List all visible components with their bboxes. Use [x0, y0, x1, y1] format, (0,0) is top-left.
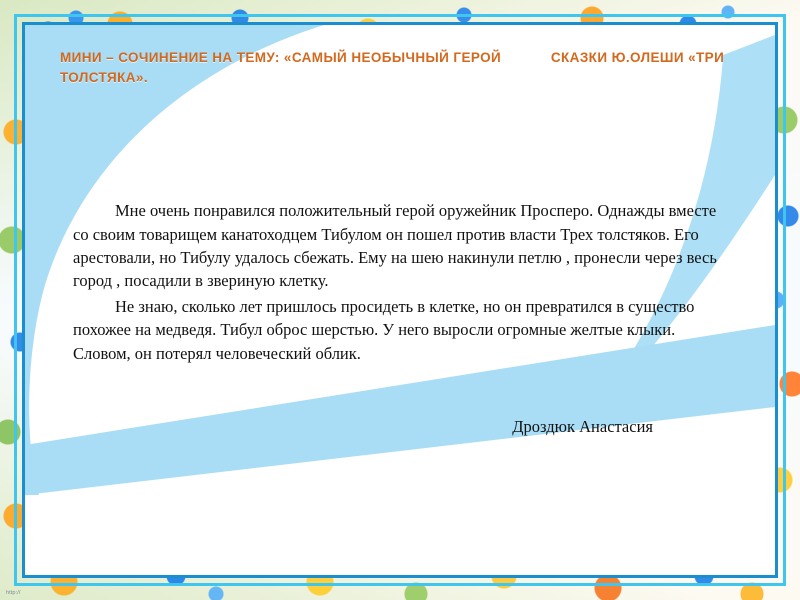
page-title: Мини – сочинение на тему: «Самый необычн… [60, 48, 745, 87]
author-signature: Дроздюк Анастасия [55, 417, 745, 437]
paragraph-2: Не знаю, сколько лет пришлось просидеть … [73, 295, 733, 365]
source-watermark: http:// [6, 590, 20, 596]
paragraph-1: Мне очень понравился положительный герой… [73, 199, 733, 293]
slide-frame-inner: Мини – сочинение на тему: «Самый необычн… [22, 22, 778, 578]
essay-body: Мне очень понравился положительный герой… [55, 199, 745, 365]
presentation-slide: Мини – сочинение на тему: «Самый необычн… [0, 0, 800, 600]
slide-content: Мини – сочинение на тему: «Самый необычн… [25, 25, 775, 575]
